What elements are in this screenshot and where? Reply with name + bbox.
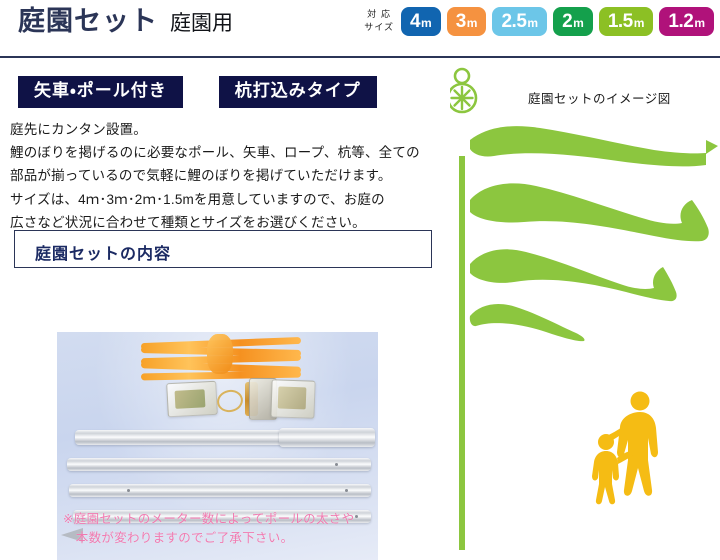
feature-banner-row: 矢車・ポール付き 杭打込みタイプ: [18, 76, 377, 108]
size-badge-value: 3: [456, 7, 466, 36]
right-column: 庭園セットのイメージ図: [450, 60, 720, 516]
page-header: 庭園セット 庭園用 対 応 サイズ 4m3m2.5m2m1.5m1.2m: [0, 0, 720, 54]
page-title-main: 庭園セット: [18, 8, 158, 35]
size-badge-unit: m: [634, 9, 645, 38]
size-badge-1.2m[interactable]: 1.2m: [659, 7, 714, 36]
header-divider: [0, 56, 720, 58]
size-badge-value: 2.5: [501, 7, 526, 36]
pole-segment-4: [69, 484, 371, 497]
description-line-1: 庭先にカンタン設置。: [10, 118, 440, 141]
pole-segment-3: [67, 458, 371, 471]
flag-pole: [459, 156, 465, 550]
size-badge-1.5m[interactable]: 1.5m: [599, 7, 654, 36]
size-label: 対 応 サイズ: [364, 9, 394, 33]
size-badge-unit: m: [467, 9, 478, 38]
accessory-bag-left: [166, 381, 218, 418]
caution-line-1: ※庭園セットのメーター数によってポールの太さや: [63, 510, 375, 529]
size-badge-value: 4: [410, 7, 420, 36]
set-contents-title: 庭園セットの内容: [35, 240, 171, 264]
accessory-bag-right: [270, 379, 315, 419]
page-title-sub: 庭園用: [170, 13, 233, 34]
size-badge-list: 4m3m2.5m2m1.5m1.2m: [401, 7, 714, 36]
pole-segment-2: [279, 428, 375, 447]
left-column: 矢車・ポール付き 杭打込みタイプ 庭先にカンタン設置。鯉のぼりを掲げるのに必要な…: [0, 60, 450, 516]
size-label-line1: 対 応: [364, 9, 394, 21]
caution-line-2: 本数が変わりますのでご了承下さい。: [63, 529, 375, 548]
koi-streamer-2: [468, 178, 712, 242]
description-text: 庭先にカンタン設置。鯉のぼりを掲げるのに必要なポール、矢車、ロープ、杭等、全ての…: [10, 118, 440, 234]
product-photo: ※庭園セットのメーター数によってポールの太さや 本数が変わりますのでご了承下さい…: [57, 332, 378, 560]
size-availability-block: 対 応 サイズ 4m3m2.5m2m1.5m1.2m: [364, 7, 714, 36]
image-caption: 庭園セットのイメージ図: [528, 88, 671, 107]
size-badge-3m[interactable]: 3m: [447, 7, 487, 36]
people-silhouette: [590, 390, 676, 508]
size-badge-value: 1.5: [608, 7, 633, 36]
size-badge-unit: m: [527, 9, 538, 38]
description-line-2: 鯉のぼりを掲げるのに必要なポール、矢車、ロープ、杭等、全ての: [10, 141, 440, 164]
rope-knot: [207, 334, 233, 374]
size-badge-value: 1.2: [668, 7, 693, 36]
feature-banner-stake-type: 杭打込みタイプ: [219, 76, 377, 108]
size-label-line2: サイズ: [364, 22, 394, 34]
koi-streamer-4: [468, 300, 588, 342]
size-badge-unit: m: [573, 9, 584, 38]
description-line-3: 部品が揃っているので気軽に鯉のぼりを掲げていただけます。: [10, 164, 440, 187]
size-badge-unit: m: [694, 9, 705, 38]
product-info-page: 庭園セット 庭園用 対 応 サイズ 4m3m2.5m2m1.5m1.2m 矢車・…: [0, 0, 720, 516]
yaguruma-ornament-icon: [450, 66, 490, 120]
size-badge-2m[interactable]: 2m: [553, 7, 593, 36]
koi-streamer-1: [468, 120, 720, 172]
set-contents-box: 庭園セットの内容: [14, 230, 432, 268]
feature-banner-yaguruma: 矢車・ポール付き: [18, 76, 183, 108]
page-title: 庭園セット 庭園用: [18, 8, 233, 35]
size-badge-unit: m: [421, 9, 432, 38]
size-badge-2.5m[interactable]: 2.5m: [492, 7, 547, 36]
description-line-4: サイズは、4ｍ･3ｍ･2ｍ･1.5mを用意していますので、お庭の: [10, 188, 440, 211]
size-badge-value: 2: [562, 7, 572, 36]
koi-streamer-3: [468, 244, 680, 302]
size-badge-4m[interactable]: 4m: [401, 7, 441, 36]
